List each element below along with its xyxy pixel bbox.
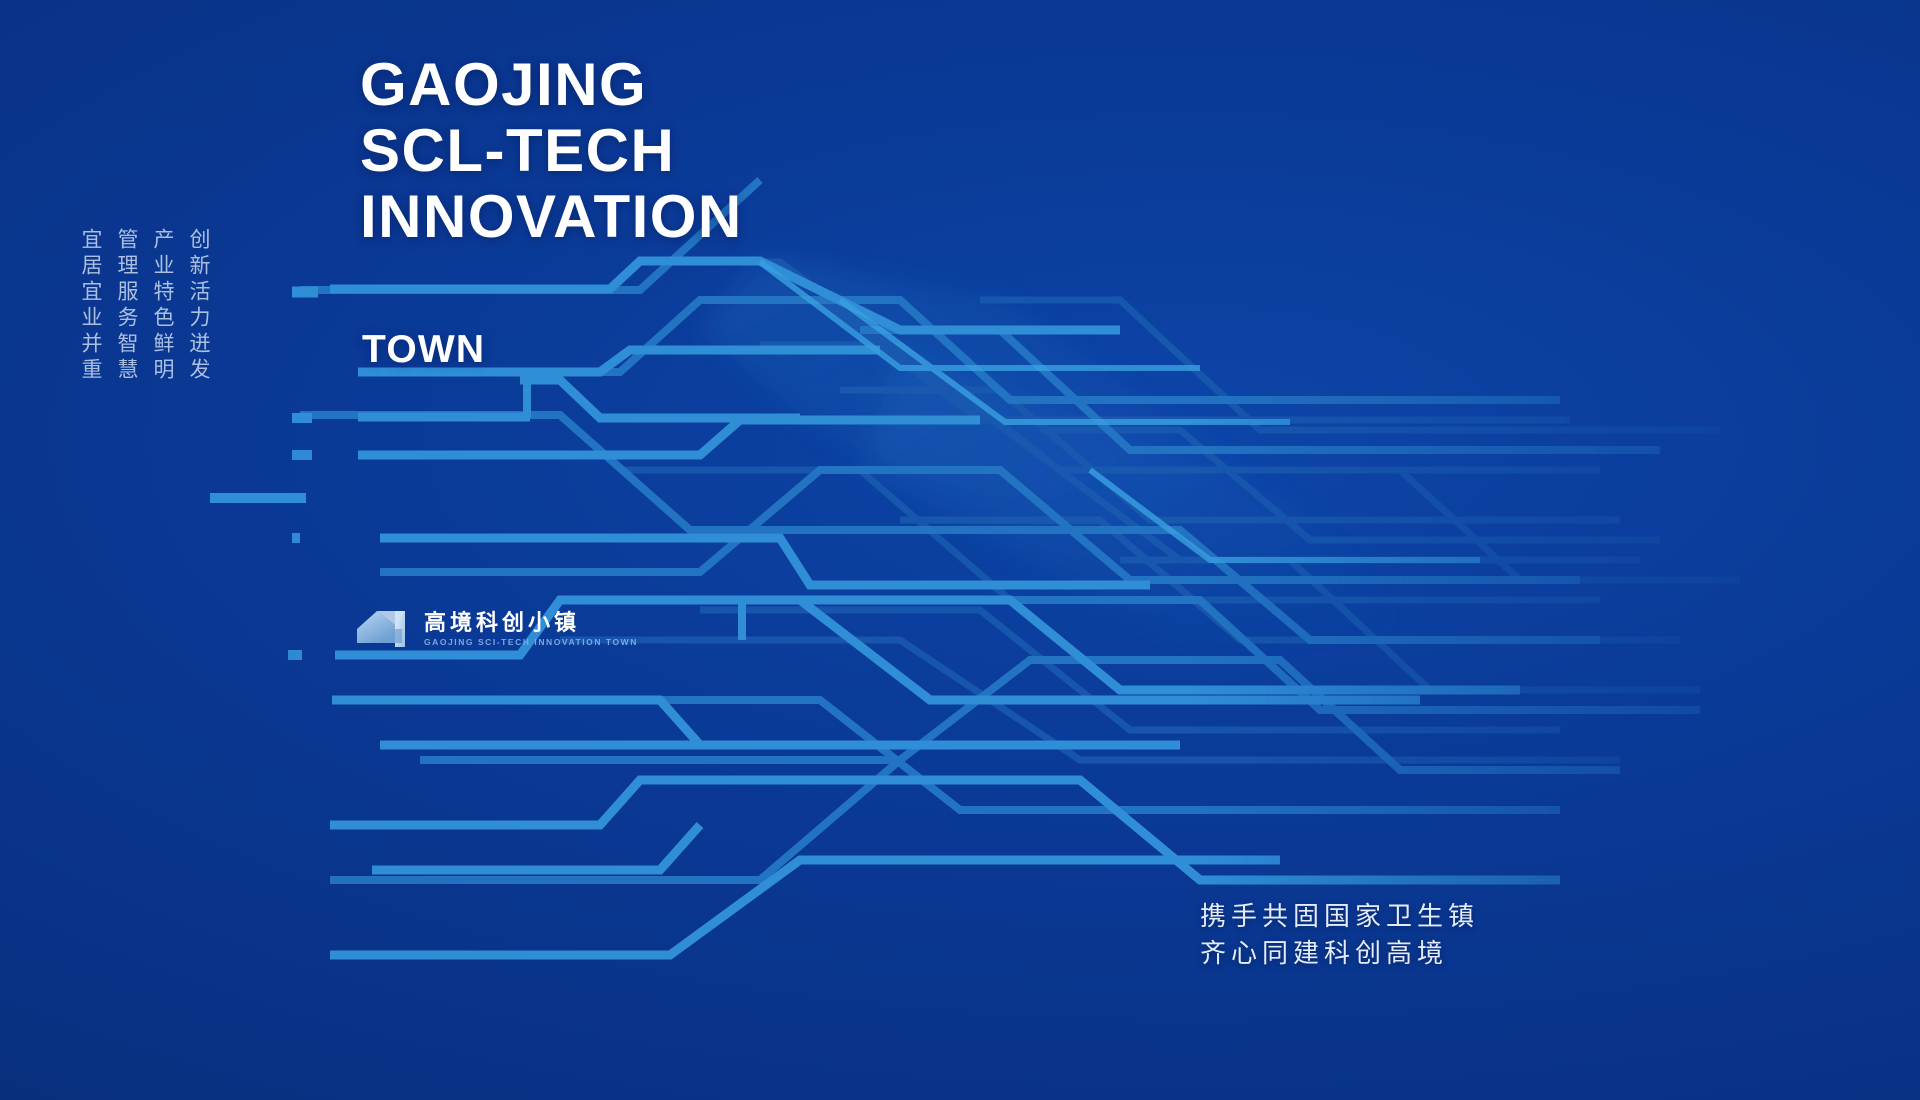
circuit-trace-background <box>0 0 1920 1100</box>
page-title: GAOJING SCL-TECH INNOVATION <box>360 52 743 250</box>
brand-logo-text: 高境科创小镇 GAOJING SCI-TECH INNOVATION TOWN <box>424 612 638 647</box>
brand-logo: 高境科创小镇 GAOJING SCI-TECH INNOVATION TOWN <box>355 605 638 653</box>
brand-name-en: GAOJING SCI-TECH INNOVATION TOWN <box>424 637 638 647</box>
bottom-slogan: 携手共固国家卫生镇 齐心同建科创高境 <box>1200 898 1479 972</box>
vertical-slogan-block: 创新活力迸发 产业特色鲜明 管理服务智慧 宜居宜业并重 <box>78 228 211 384</box>
vertical-slogan-line: 产业特色鲜明 <box>150 228 175 384</box>
poster-canvas: GAOJING SCL-TECH INNOVATION TOWN 创新活力迸发 … <box>0 0 1920 1100</box>
vertical-slogan-line: 宜居宜业并重 <box>78 228 103 384</box>
vertical-slogan-line: 创新活力迸发 <box>186 228 211 384</box>
brand-name-cn: 高境科创小镇 <box>424 612 638 634</box>
page-subtitle: TOWN <box>362 328 485 372</box>
house-building-icon <box>355 605 413 653</box>
vertical-slogan-line: 管理服务智慧 <box>114 228 139 384</box>
